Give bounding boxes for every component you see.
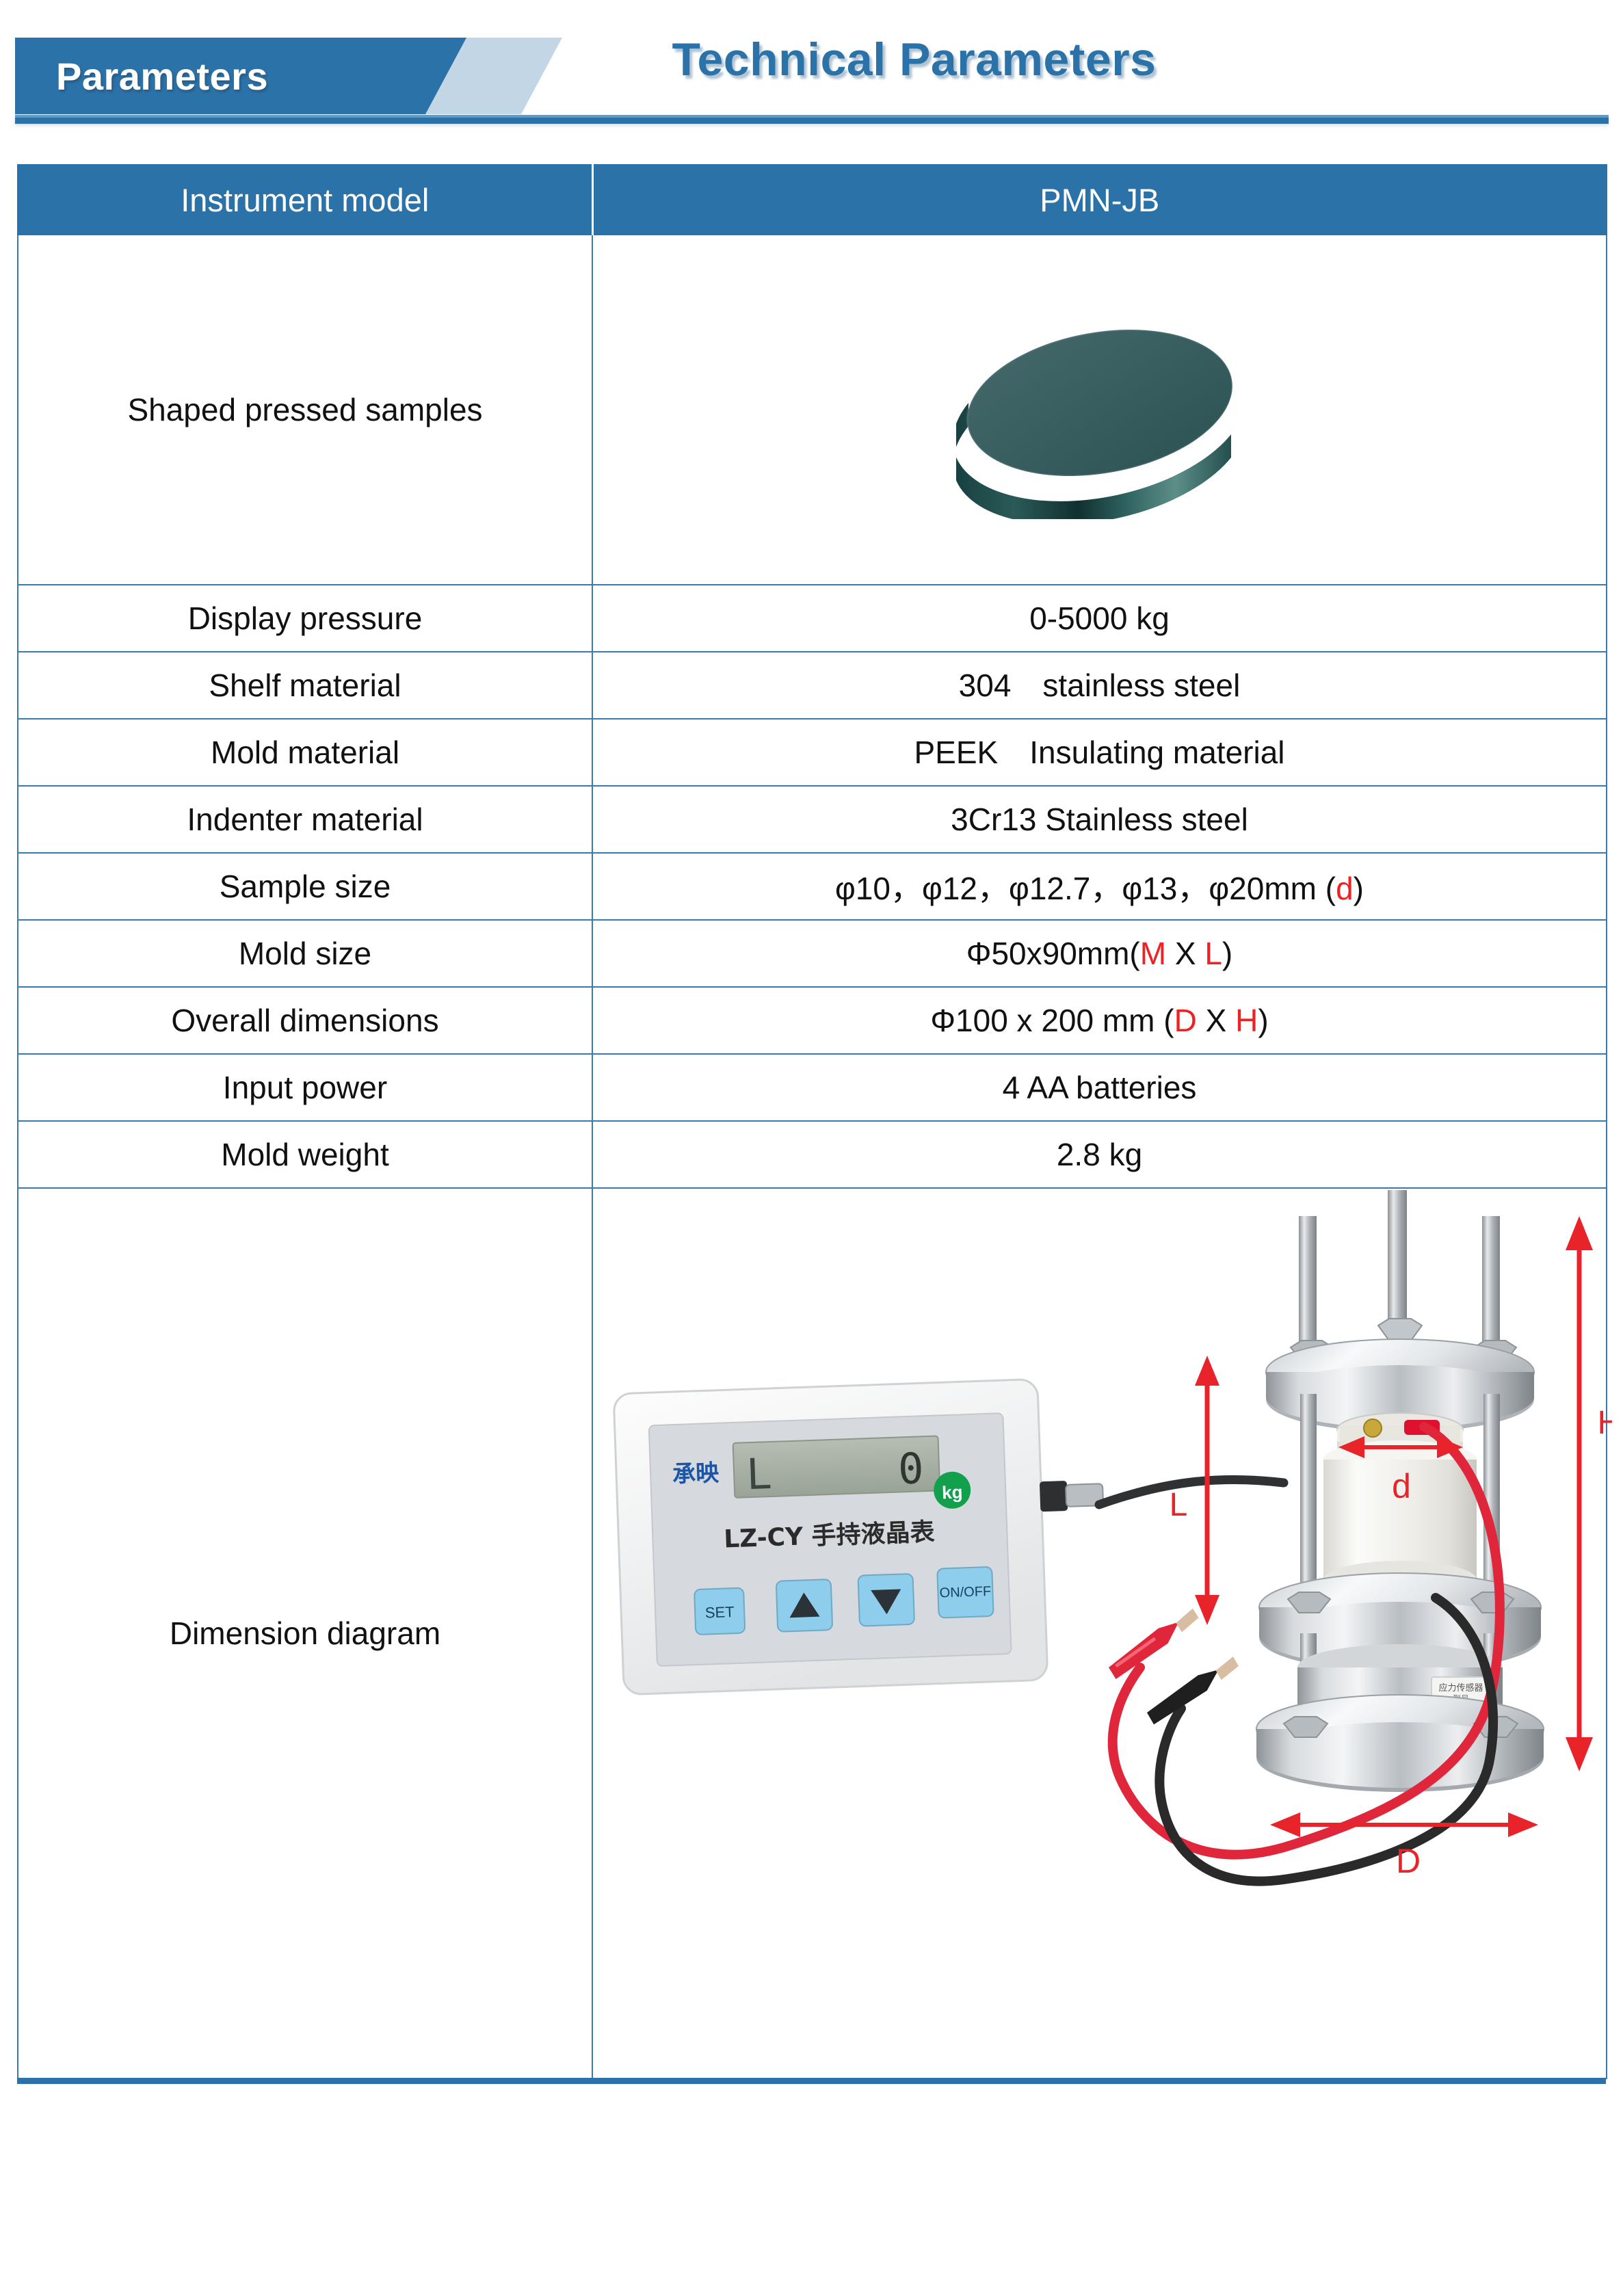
sensor-label-line-1: 应力传感器 — [1438, 1683, 1483, 1693]
meter-button-set[interactable]: SET — [694, 1588, 745, 1635]
mold-size-red-l: L — [1204, 936, 1222, 971]
table-row-dimension-diagram: Dimension diagram — [18, 1188, 1607, 2079]
row-value-mold-size: Φ50x90mm(M X L) — [592, 920, 1607, 987]
terminal-screw-top — [1364, 1419, 1382, 1437]
row-value-mold-weight: 2.8 kg — [592, 1121, 1607, 1188]
handheld-meter: 承映 L 0 kg LZ-CY 手持液晶表 — [613, 1377, 1109, 1695]
sample-size-red-symbol: d — [1336, 871, 1354, 906]
mold-size-red-m: M — [1140, 936, 1166, 971]
table-row-overall-dimensions: Overall dimensions Φ100 x 200 mm (D X H) — [18, 987, 1607, 1054]
row-value-display-pressure: 0-5000 kg — [592, 585, 1607, 652]
dimension-arrow-D — [1270, 1812, 1538, 1837]
overall-dimensions-part-1: Φ100 x 200 mm ( — [930, 1003, 1174, 1038]
row-label-indenter-material: Indenter material — [18, 786, 592, 853]
meter-lcd-left-glyph: L — [745, 1449, 773, 1499]
dimension-arrow-L — [1195, 1356, 1219, 1625]
sample-size-plain-prefix: φ10，φ12，φ12.7，φ13，φ20mm ( — [835, 871, 1336, 906]
row-value-input-power: 4 AA batteries — [592, 1054, 1607, 1121]
black-alligator-clip — [1144, 1655, 1243, 1724]
dimension-label-H: H — [1598, 1405, 1612, 1441]
peek-mold-cylinder — [1323, 1413, 1477, 1599]
row-label-dimension-diagram: Dimension diagram — [18, 1188, 592, 2079]
overall-dimensions-red-d: D — [1174, 1003, 1197, 1038]
row-value-indenter-material: 3Cr13 Stainless steel — [592, 786, 1607, 853]
table-row-shaped-pressed-samples: Shaped pressed samples — [18, 235, 1607, 585]
sample-size-plain-suffix: ) — [1354, 871, 1364, 906]
table-row-mold-size: Mold size Φ50x90mm(M X L) — [18, 920, 1607, 987]
row-value-pressed-sample-image — [592, 235, 1607, 585]
table-row-display-pressure: Display pressure 0-5000 kg — [18, 585, 1607, 652]
row-value-mold-material: PEEK Insulating material — [592, 719, 1607, 786]
overall-dimensions-part-3: ) — [1258, 1003, 1268, 1038]
mold-size-part-3: ) — [1222, 936, 1232, 971]
table-header-row: Instrument model PMN-JB — [18, 165, 1607, 235]
row-value-shelf-material: 304 stainless steel — [592, 652, 1607, 719]
dimension-diagram-svg: 承映 L 0 kg LZ-CY 手持液晶表 — [600, 1189, 1612, 2078]
row-label-shaped-pressed-samples: Shaped pressed samples — [18, 235, 592, 585]
row-label-input-power: Input power — [18, 1054, 592, 1121]
meter-lcd-value: 0 — [897, 1443, 925, 1494]
dimension-label-D: D — [1396, 1842, 1421, 1880]
row-label-mold-material: Mold material — [18, 719, 592, 786]
mold-size-part-1: Φ50x90mm( — [966, 936, 1140, 971]
page-title: Technical Parameters — [0, 33, 1623, 86]
row-label-mold-weight: Mold weight — [18, 1121, 592, 1188]
pressed-sample-disc-icon — [956, 300, 1243, 519]
dimension-label-d: d — [1392, 1467, 1411, 1505]
dimension-arrow-H — [1566, 1216, 1593, 1771]
meter-kg-badge-label: kg — [942, 1481, 963, 1503]
meter-button-onoff[interactable]: ON/OFF — [937, 1567, 993, 1618]
specifications-table: Instrument model PMN-JB Shaped pressed s… — [17, 164, 1607, 2079]
table-row-sample-size: Sample size φ10，φ12，φ12.7，φ13，φ20mm (d) — [18, 853, 1607, 920]
overall-dimensions-red-h: H — [1235, 1003, 1258, 1038]
row-value-overall-dimensions: Φ100 x 200 mm (D X H) — [592, 987, 1607, 1054]
row-label-shelf-material: Shelf material — [18, 652, 592, 719]
signal-cable — [1099, 1479, 1284, 1505]
dimension-diagram-figure: 承映 L 0 kg LZ-CY 手持液晶表 — [600, 1189, 1599, 2078]
red-alligator-clip — [1105, 1607, 1203, 1679]
table-row-mold-material: Mold material PEEK Insulating material — [18, 719, 1607, 786]
row-label-sample-size: Sample size — [18, 853, 592, 920]
mold-size-part-2: X — [1166, 936, 1204, 971]
row-value-dimension-diagram: 承映 L 0 kg LZ-CY 手持液晶表 — [592, 1188, 1607, 2079]
overall-dimensions-part-2: X — [1197, 1003, 1235, 1038]
header-divider-highlight — [15, 115, 1609, 118]
table-row-indenter-material: Indenter material 3Cr13 Stainless steel — [18, 786, 1607, 853]
technical-parameters-page: Parameters Technical Parameters Instrume… — [0, 0, 1623, 2296]
row-label-overall-dimensions: Overall dimensions — [18, 987, 592, 1054]
meter-button-down[interactable] — [858, 1574, 914, 1626]
meter-button-up[interactable] — [776, 1579, 833, 1632]
row-label-mold-size: Mold size — [18, 920, 592, 987]
table-row-shelf-material: Shelf material 304 stainless steel — [18, 652, 1607, 719]
meter-side-connector — [1040, 1481, 1068, 1512]
page-header: Parameters Technical Parameters — [0, 0, 1623, 137]
meter-button-set-label: SET — [704, 1603, 735, 1621]
row-label-display-pressure: Display pressure — [18, 585, 592, 652]
meter-button-onoff-label: ON/OFF — [939, 1584, 991, 1601]
mold-base-plate — [1256, 1695, 1544, 1792]
header-cell-instrument-model: Instrument model — [18, 165, 592, 235]
meter-brand-label: 承映 — [672, 1460, 719, 1488]
table-row-input-power: Input power 4 AA batteries — [18, 1054, 1607, 1121]
row-value-sample-size: φ10，φ12，φ12.7，φ13，φ20mm (d) — [592, 853, 1607, 920]
dimension-label-L: L — [1170, 1487, 1188, 1523]
header-cell-model-value: PMN-JB — [592, 165, 1607, 235]
table-bottom-rule — [17, 2078, 1606, 2084]
table-row-mold-weight: Mold weight 2.8 kg — [18, 1121, 1607, 1188]
